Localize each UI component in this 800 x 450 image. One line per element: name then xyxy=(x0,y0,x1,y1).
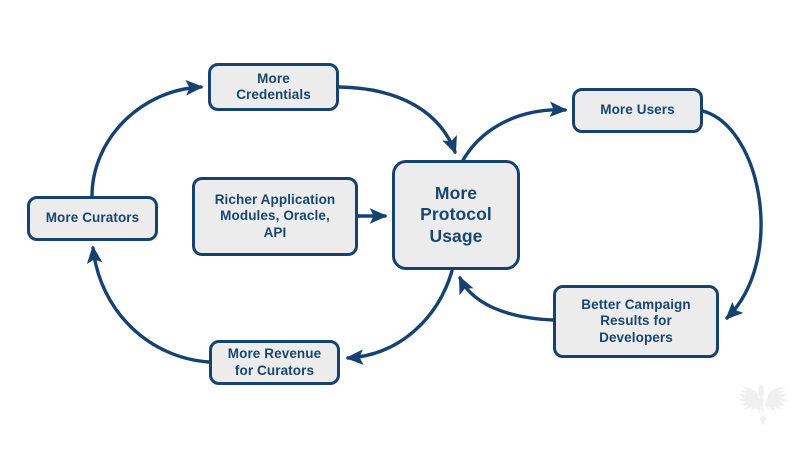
edge-campaign-to-protocol xyxy=(460,278,553,320)
edge-curators-to-credentials xyxy=(92,87,201,196)
node-label-line-3: Developers xyxy=(575,330,697,346)
node-label-line-3: Usage xyxy=(414,226,498,247)
node-better-campaign-results[interactable]: Better Campaign Results for Developers xyxy=(553,285,719,358)
node-more-users[interactable]: More Users xyxy=(572,88,703,133)
node-label: More Curators xyxy=(40,210,146,226)
edge-protocol-to-users xyxy=(462,110,565,162)
node-label-line-3: API xyxy=(209,225,342,241)
node-label-line-1: Richer Application xyxy=(209,192,342,208)
node-label-line-2: Modules, Oracle, xyxy=(209,208,342,224)
diagram-canvas: More Curators More Credentials Richer Ap… xyxy=(0,0,800,450)
node-label-line-2: Credentials xyxy=(230,87,317,103)
node-more-revenue-for-curators[interactable]: More Revenue for Curators xyxy=(209,340,340,385)
node-label-line-1: More xyxy=(230,71,317,87)
node-label-line-2: Protocol xyxy=(414,204,498,225)
node-label-line-1: More Revenue xyxy=(222,346,327,362)
node-label-line-2: for Curators xyxy=(222,363,327,379)
node-more-protocol-usage[interactable]: More Protocol Usage xyxy=(392,160,520,270)
node-label-line-2: Results for xyxy=(575,313,697,329)
node-more-credentials[interactable]: More Credentials xyxy=(208,63,339,111)
node-label-line-1: Better Campaign xyxy=(575,297,697,313)
node-label: More Users xyxy=(594,102,681,118)
phoenix-eagle-watermark xyxy=(736,378,790,426)
node-richer-application[interactable]: Richer Application Modules, Oracle, API xyxy=(192,177,358,256)
node-more-curators[interactable]: More Curators xyxy=(27,196,158,241)
edge-credentials-to-protocol xyxy=(339,87,455,152)
edge-protocol-to-revenue xyxy=(348,271,452,358)
node-label-line-1: More xyxy=(414,183,498,204)
edge-revenue-to-curators xyxy=(93,248,209,362)
